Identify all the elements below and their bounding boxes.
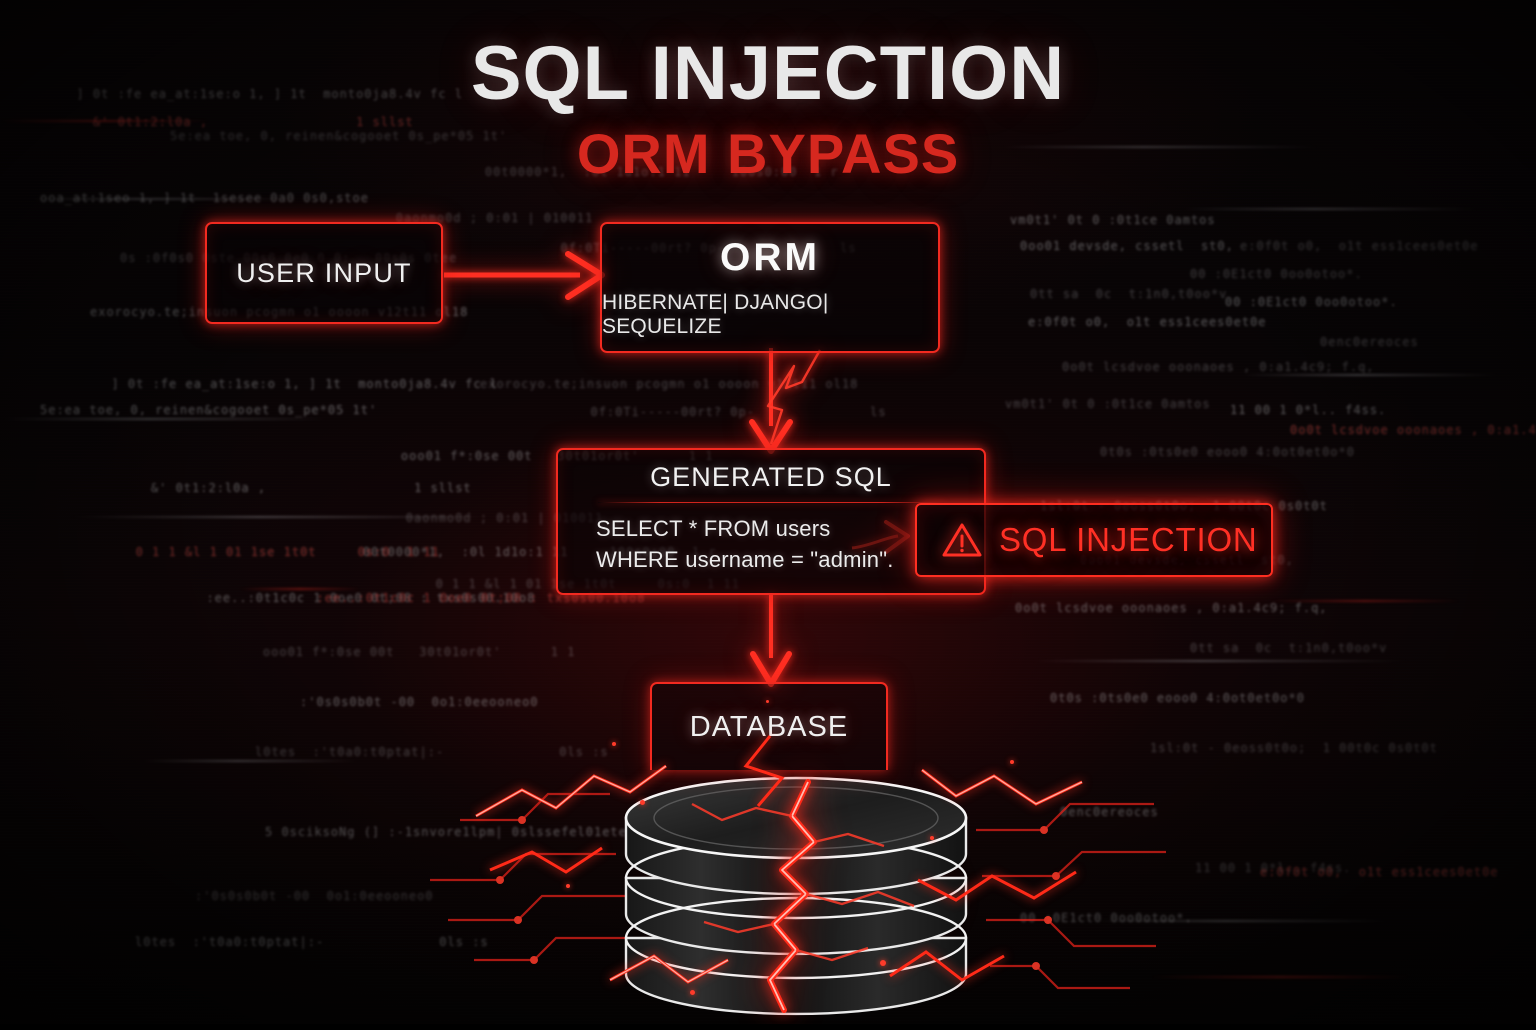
bg-code-line: vm0t1' 0t 0 :0t1ce 0amtos bbox=[1005, 392, 1211, 417]
database-label: DATABASE bbox=[690, 711, 848, 744]
bg-code-line: 0o0t lcsdvoe ooonaoes , 0:a1.4c9; f.q, bbox=[1062, 355, 1375, 380]
bg-code-line: l0tes :'t0a0:t0ptat|:- 0ls :s bbox=[255, 740, 609, 765]
generated-sql-title: GENERATED SQL bbox=[558, 462, 984, 493]
bg-code-line: ] 0t :fe ea_at:1se:o 1, ] 1t monto0ja8.4… bbox=[95, 372, 498, 397]
page-subtitle: ORM BYPASS bbox=[0, 126, 1536, 182]
database-cylinder-icon bbox=[596, 742, 996, 1024]
bg-code-line: ooo01 f*:0se 00t 30t01or0t' 1 1 bbox=[230, 640, 575, 665]
spark bbox=[1010, 760, 1014, 764]
bg-code-line: :'0s0s0b0t -00 0o1:0eeooneo0 bbox=[195, 884, 434, 909]
orm-frameworks-label: HIBERNATE| DJANGO| SEQUELIZE bbox=[602, 291, 938, 339]
bg-code-line: 5e:ea toe, 0, reinen&cogooet 0s_pe*05 1t… bbox=[40, 398, 377, 423]
bg-code-line: exorocyo.te;insuon pcogmn o1 oooon v12t1… bbox=[480, 372, 858, 397]
bg-code-line: 00 :0E1ct0 0oo0otoo*. bbox=[1020, 906, 1193, 931]
bg-code-line: 0tt sa 0c t:1n0,t0oo*v bbox=[1190, 636, 1387, 661]
bg-code-line: 0o0t lcsdvoe ooonaoes , 0:a1.4c9; f.q, bbox=[1015, 596, 1328, 621]
spark bbox=[640, 800, 645, 805]
bg-code-line: 1sl:0t - 0eoss0t0o; 1 00t0c 0s0t0t bbox=[1150, 736, 1438, 761]
warning-triangle-icon bbox=[941, 521, 983, 559]
spark bbox=[566, 884, 570, 888]
spark bbox=[930, 836, 934, 840]
bg-code-line: 0t0s :0ts0e0 eooo0 4:0ot0et0o*0 bbox=[1050, 686, 1305, 711]
spark bbox=[880, 960, 886, 966]
bg-code-line: 0t0s :0ts0e0 eooo0 4:0ot0et0o*0 bbox=[1100, 440, 1355, 465]
bg-code-line: 0enc0ereoces bbox=[1320, 330, 1419, 355]
spark bbox=[766, 700, 769, 703]
page-title: SQL INJECTION bbox=[0, 36, 1536, 112]
bg-code-line-red: e:0f0t o0, o1t ess1cees0et0e bbox=[1260, 860, 1499, 885]
bg-code-line: :'0s0s0b0t -00 0o1:0eeooneo0 bbox=[300, 690, 539, 715]
bg-code-line: 0tt sa 0c t:1n0,t0oo*v bbox=[1030, 282, 1227, 307]
bg-code-line: &' 0t1:2:l0a , 1 sllst bbox=[118, 476, 472, 501]
bg-code-line: 5 0sciksoNg (] :-1snvore1lpm| 0slssefel0… bbox=[265, 820, 627, 845]
divider bbox=[598, 502, 944, 503]
orm-title: ORM bbox=[720, 236, 820, 280]
spark bbox=[612, 742, 616, 746]
bg-code-line: 0oo01 devsde, cssetl st0, bbox=[1020, 234, 1234, 259]
header: SQL INJECTION ORM BYPASS bbox=[0, 36, 1536, 182]
node-database[interactable]: DATABASE bbox=[650, 682, 888, 770]
bg-code-line-red: 0 1 1 &l 1 01 1se 1t0t 0s:0 1 11 bbox=[78, 540, 440, 565]
bg-code-line: 0f:0Ti-----00rt? 0p- ls bbox=[500, 400, 887, 425]
node-user-input[interactable]: USER INPUT bbox=[205, 222, 443, 324]
bg-code-line-red: 0o0t lcsdvoe ooonaoes , 0:a1.4c9; f.q, bbox=[1290, 418, 1536, 443]
status-badge-sql-injection[interactable]: SQL INJECTION bbox=[915, 503, 1273, 577]
bg-code-line: e:0f0t o0, o1t ess1cees0et0e bbox=[1028, 310, 1267, 335]
node-orm[interactable]: ORM HIBERNATE| DJANGO| SEQUELIZE bbox=[600, 222, 940, 353]
sql-injection-label: SQL INJECTION bbox=[999, 521, 1258, 559]
bg-code-line: e:0f0t o0, o1t ess1cees0et0e bbox=[1240, 234, 1479, 259]
bg-code-line: 0enc0ereoces bbox=[1060, 800, 1159, 825]
bg-code-line: vm0t1' 0t 0 :0t1ce 0amtos bbox=[1010, 208, 1216, 233]
bg-code-line: l0tes :'t0a0:t0ptat|:- 0ls :s bbox=[135, 930, 489, 955]
bg-code-line: ooa_at:1seo 1, ] 1t 1sesee 0a0 0s0,stoe bbox=[40, 186, 369, 211]
spark bbox=[690, 990, 695, 995]
user-input-label: USER INPUT bbox=[236, 258, 412, 289]
